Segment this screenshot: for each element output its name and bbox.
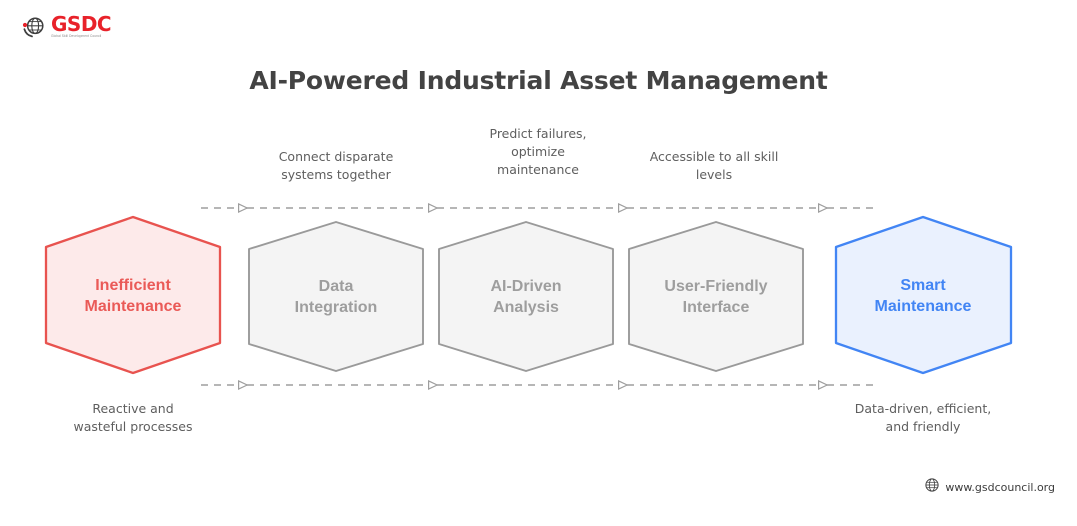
- caption-line1: Accessible to all skill: [623, 148, 805, 166]
- caption-line2: wasteful processes: [43, 418, 223, 436]
- process-flow-diagram: [0, 0, 1077, 526]
- slide-canvas: GSDC Global Skill Development Council AI…: [0, 0, 1077, 526]
- caption-data-integration: Connect disparate systems together: [246, 148, 426, 184]
- caption-line1: Data-driven, efficient,: [832, 400, 1014, 418]
- caption-line2: systems together: [246, 166, 426, 184]
- caption-line2: and friendly: [832, 418, 1014, 436]
- caption-line1: Connect disparate: [246, 148, 426, 166]
- hexagon-data-integration[interactable]: [249, 222, 423, 371]
- caption-inefficient-maintenance: Reactive and wasteful processes: [43, 400, 223, 436]
- caption-line2: optimize: [448, 143, 628, 161]
- caption-line1: Reactive and: [43, 400, 223, 418]
- globe-icon: [925, 478, 939, 497]
- footer: www.gsdcouncil.org: [925, 478, 1055, 497]
- caption-line3: maintenance: [448, 161, 628, 179]
- hexagon-inefficient-maintenance[interactable]: [46, 217, 220, 373]
- caption-user-friendly-interface: Accessible to all skill levels: [623, 148, 805, 184]
- hexagon-user-friendly-interface[interactable]: [629, 222, 803, 371]
- caption-smart-maintenance: Data-driven, efficient, and friendly: [832, 400, 1014, 436]
- footer-url[interactable]: www.gsdcouncil.org: [945, 481, 1055, 494]
- hexagon-smart-maintenance[interactable]: [836, 217, 1011, 373]
- hexagon-ai-driven-analysis[interactable]: [439, 222, 613, 371]
- caption-line2: levels: [623, 166, 805, 184]
- caption-line1: Predict failures,: [448, 125, 628, 143]
- caption-ai-driven-analysis: Predict failures, optimize maintenance: [448, 125, 628, 178]
